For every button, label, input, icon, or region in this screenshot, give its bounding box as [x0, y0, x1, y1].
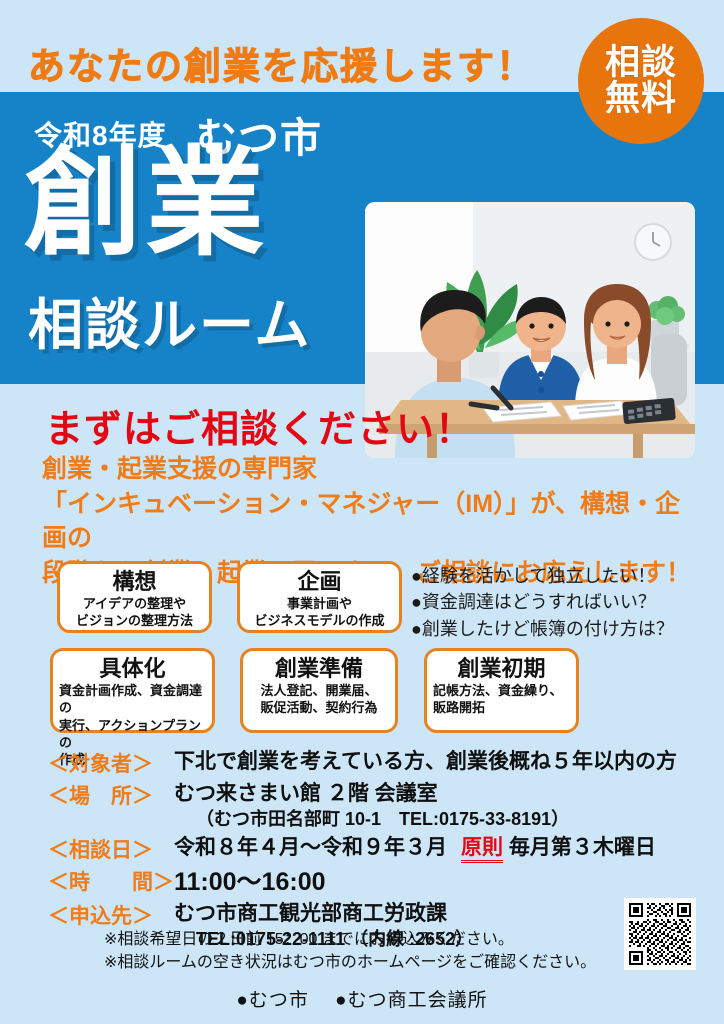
details-row-date: ＜相談日＞ 令和８年４月〜令和９年３月原則 毎月第３木曜日 [48, 834, 708, 864]
details-value: 11:00〜16:00 [174, 866, 326, 899]
apply-dept: むつ市商工観光部商工労政課 [174, 902, 447, 925]
stage-box-kousou: 構想 アイデアの整理やビジョンの整理方法 [57, 561, 212, 633]
place-address: （むつ市田名部町 10-1 TEL:0175-33-8191） [174, 808, 569, 831]
stage-box-desc: 法人登記、開業届、販促活動、契約行為 [243, 682, 395, 716]
intro-line-1: 創業・起業支援の専門家 [42, 452, 702, 487]
details-row-place: ＜場 所＞ むつ来さまい館 ２階 会議室 （むつ市田名部町 10-1 TEL:0… [48, 780, 708, 832]
question-list: ●経験を活かして独立したい！ ●資金調達はどうすればいい？ ●創業したけど帳簿の… [411, 563, 674, 642]
details-value: 下北で創業を考えている方、創業後概ね５年以内の方 [174, 748, 677, 775]
details-label: ＜場 所＞ [48, 780, 174, 810]
stage-box-sougyou-shoki: 創業初期 記帳方法、資金繰り、販路開拓 [424, 648, 579, 733]
stage-box-title: 企画 [240, 569, 399, 594]
details-row-target: ＜対象者＞ 下北で創業を考えている方、創業後概ね５年以内の方 [48, 748, 708, 778]
intro-line-2: 「インキュベーション・マネジャー（IM）」が、構想・企画の [42, 487, 702, 556]
list-item: ●資金調達はどうすればいい？ [411, 589, 674, 615]
details-label: ＜申込先＞ [48, 900, 174, 930]
footnote: ※相談希望日の２日前 15：00 までにお申込みください。 [104, 928, 596, 951]
details-label: ＜相談日＞ [48, 834, 174, 864]
badge-line-2: 無料 [605, 81, 677, 117]
stage-box-title: 構想 [60, 569, 209, 594]
footnotes: ※相談希望日の２日前 15：00 までにお申込みください。 ※相談ルームの空き状… [104, 928, 596, 974]
stage-box-desc: 事業計画やビジネスモデルの作成 [240, 595, 399, 629]
qr-code-icon[interactable] [624, 898, 696, 970]
org-chamber: ●むつ商工会議所 [335, 990, 487, 1011]
stage-box-desc: アイデアの整理やビジョンの整理方法 [60, 595, 209, 629]
org-city: ●むつ市 [236, 990, 308, 1011]
page-headline: あなたの創業を応援します！ [28, 36, 535, 90]
badge-line-1: 相談 [605, 45, 677, 81]
details-table: ＜対象者＞ 下北で創業を考えている方、創業後概ね５年以内の方 ＜場 所＞ むつ来… [48, 748, 708, 954]
stage-box-kikaku: 企画 事業計画やビジネスモデルの作成 [237, 561, 402, 633]
stage-box-desc: 記帳方法、資金繰り、販路開拓 [427, 682, 576, 716]
organisations: ●むつ市 ●むつ商工会議所 [0, 985, 724, 1012]
details-value: 令和８年４月〜令和９年３月原則 毎月第３木曜日 [174, 834, 656, 861]
details-row-time: ＜時 間＞ 11:00〜16:00 [48, 866, 708, 899]
date-range: 令和８年４月〜令和９年３月 [174, 836, 447, 859]
stage-box-title: 具体化 [53, 656, 212, 681]
banner-sub-title: 相談ルーム [28, 280, 311, 360]
stage-box-gutaika: 具体化 資金計画作成、資金調達の実行、アクションプランの作成 [50, 648, 215, 733]
place-name: むつ来さまい館 ２階 会議室 [174, 782, 438, 805]
details-label: ＜時 間＞ [48, 866, 174, 896]
stage-box-title: 創業初期 [427, 656, 576, 681]
cta-heading: まずはご相談ください！ [45, 398, 474, 453]
list-item: ●経験を活かして独立したい！ [411, 563, 674, 589]
banner-main-title: 創業 [24, 148, 268, 261]
poster-root: あなたの創業を応援します！ 相談 無料 令和8年度 むつ市 創業 相談ルーム [0, 0, 724, 1024]
stage-box-sougyou-junbi: 創業準備 法人登記、開業届、販促活動、契約行為 [240, 648, 398, 733]
date-emphasis: 原則 [461, 836, 503, 863]
details-value: むつ来さまい館 ２階 会議室 （むつ市田名部町 10-1 TEL:0175-33… [174, 780, 569, 832]
list-item: ●創業したけど帳簿の付け方は？ [411, 616, 674, 642]
footnote: ※相談ルームの空き状況はむつ市のホームページをご確認ください。 [104, 951, 596, 974]
details-label: ＜対象者＞ [48, 748, 174, 778]
free-consultation-badge: 相談 無料 [578, 18, 704, 144]
stage-box-title: 創業準備 [243, 656, 395, 681]
date-tail: 毎月第３木曜日 [509, 836, 656, 859]
